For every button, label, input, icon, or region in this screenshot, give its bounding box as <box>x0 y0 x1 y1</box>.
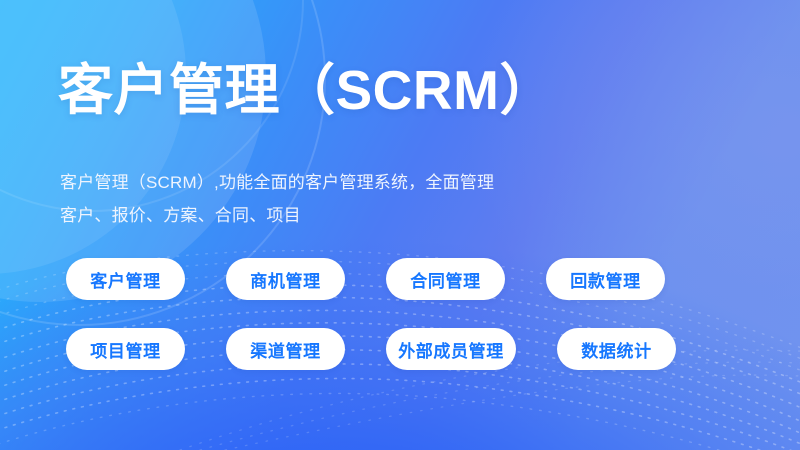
banner-subtitle: 客户管理（SCRM）,功能全面的客户管理系统，全面管理 客户、报价、方案、合同、… <box>60 166 720 232</box>
banner-content: 客户管理（SCRM） 客户管理（SCRM）,功能全面的客户管理系统，全面管理 客… <box>0 0 800 450</box>
feature-pill-grid: 客户管理 商机管理 合同管理 回款管理 项目管理 渠道管理 外部成员管理 数据统… <box>66 258 676 398</box>
subtitle-line-1: 客户管理（SCRM）,功能全面的客户管理系统，全面管理 <box>60 166 720 199</box>
feature-pill-channel-management[interactable]: 渠道管理 <box>226 328 345 370</box>
feature-pill-opportunity-management[interactable]: 商机管理 <box>226 258 345 300</box>
feature-pill-row-2: 项目管理 渠道管理 外部成员管理 数据统计 <box>66 328 676 370</box>
feature-pill-contract-management[interactable]: 合同管理 <box>386 258 505 300</box>
feature-pill-payment-management[interactable]: 回款管理 <box>546 258 665 300</box>
feature-pill-project-management[interactable]: 项目管理 <box>66 328 185 370</box>
page-title: 客户管理（SCRM） <box>58 63 555 118</box>
feature-pill-data-statistics[interactable]: 数据统计 <box>557 328 676 370</box>
scrm-hero-banner: 客户管理（SCRM） 客户管理（SCRM）,功能全面的客户管理系统，全面管理 客… <box>0 0 800 450</box>
subtitle-line-2: 客户、报价、方案、合同、项目 <box>60 199 720 232</box>
feature-pill-row-1: 客户管理 商机管理 合同管理 回款管理 <box>66 258 676 300</box>
feature-pill-external-member-management[interactable]: 外部成员管理 <box>386 328 516 370</box>
feature-pill-customer-management[interactable]: 客户管理 <box>66 258 185 300</box>
